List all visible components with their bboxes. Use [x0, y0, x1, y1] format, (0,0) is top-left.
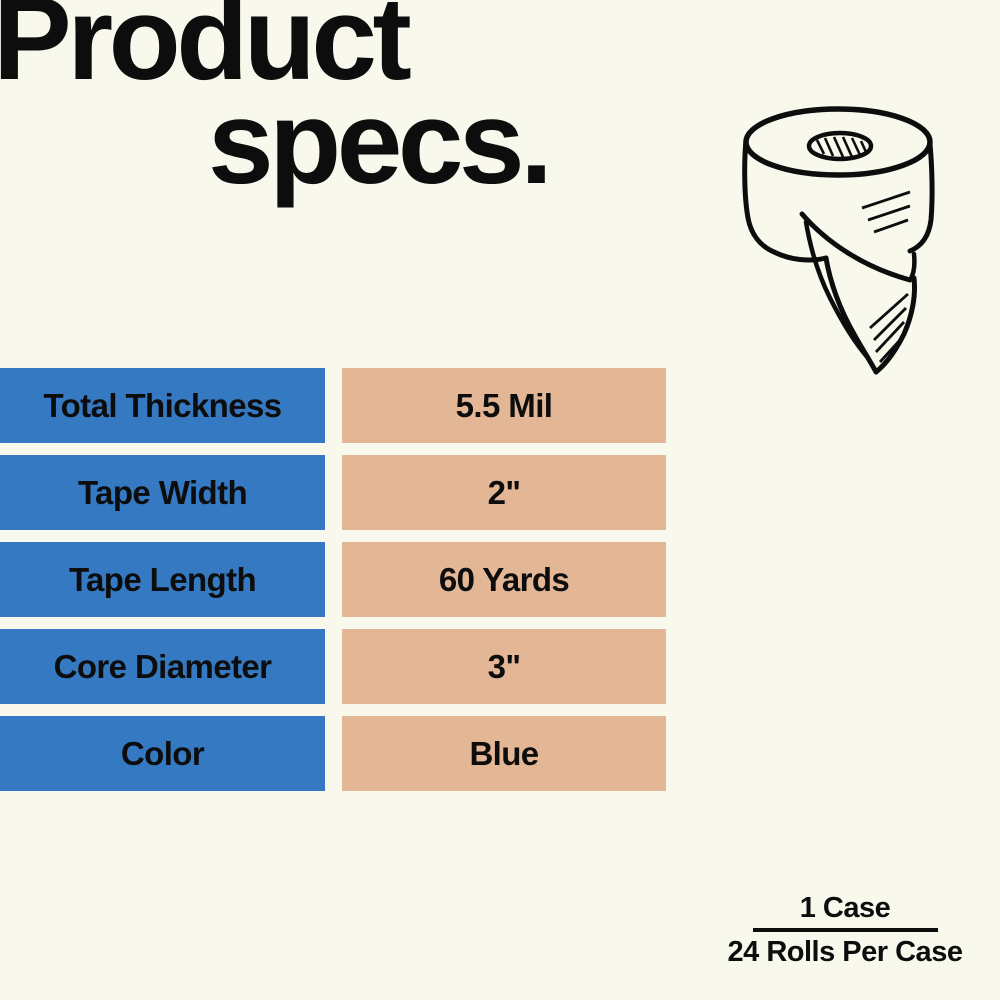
- page-title: Product specs.: [0, 0, 640, 196]
- case-ratio-denominator: 24 Rolls Per Case: [700, 936, 990, 968]
- page-title-line-2: specs.: [208, 92, 640, 196]
- spec-table: Total Thickness 5.5 Mil Tape Width 2" Ta…: [0, 368, 666, 791]
- case-ratio-divider: [753, 928, 938, 932]
- spec-label-text: Color: [121, 737, 204, 770]
- spec-value-cell: 60 Yards: [342, 542, 666, 617]
- table-row: Tape Width 2": [0, 455, 666, 530]
- table-row: Total Thickness 5.5 Mil: [0, 368, 666, 443]
- cell-gap: [325, 542, 342, 617]
- spec-label-text: Tape Length: [69, 563, 256, 596]
- spec-label-cell: Core Diameter: [0, 629, 325, 704]
- cell-gap: [325, 455, 342, 530]
- spec-value-cell: 2": [342, 455, 666, 530]
- cell-gap: [325, 629, 342, 704]
- spec-label-text: Core Diameter: [54, 650, 272, 683]
- spec-value-cell: 5.5 Mil: [342, 368, 666, 443]
- table-row: Color Blue: [0, 716, 666, 791]
- spec-value-cell: 3": [342, 629, 666, 704]
- table-row: Tape Length 60 Yards: [0, 542, 666, 617]
- case-ratio-numerator: 1 Case: [700, 892, 990, 924]
- spec-value-text: Blue: [469, 737, 538, 770]
- spec-value-text: 60 Yards: [439, 563, 569, 596]
- spec-label-text: Total Thickness: [44, 389, 282, 422]
- product-specs-page: Product specs.: [0, 0, 1000, 1000]
- spec-value-cell: Blue: [342, 716, 666, 791]
- spec-label-text: Tape Width: [78, 476, 247, 509]
- table-row: Core Diameter 3": [0, 629, 666, 704]
- spec-value-text: 2": [488, 476, 521, 509]
- spec-label-cell: Tape Length: [0, 542, 325, 617]
- spec-label-cell: Total Thickness: [0, 368, 325, 443]
- spec-label-cell: Color: [0, 716, 325, 791]
- spec-value-text: 5.5 Mil: [456, 389, 553, 422]
- cell-gap: [325, 716, 342, 791]
- cell-gap: [325, 368, 342, 443]
- spec-label-cell: Tape Width: [0, 455, 325, 530]
- spec-value-text: 3": [488, 650, 521, 683]
- tape-roll-illustration: [718, 96, 978, 376]
- case-ratio: 1 Case 24 Rolls Per Case: [700, 892, 990, 969]
